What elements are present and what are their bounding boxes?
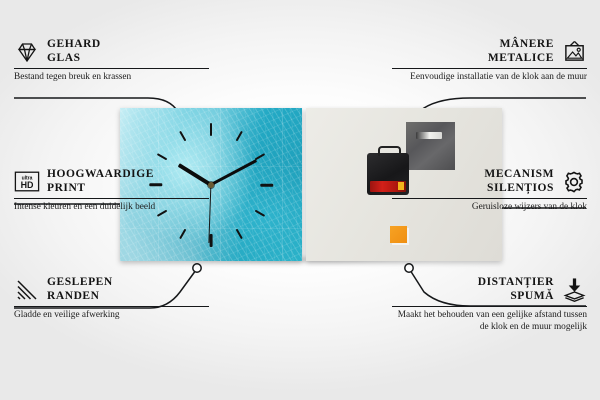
feature-title: HOOGWAARDIGEPRINT xyxy=(47,168,154,195)
feature-title: GEHARDGLAS xyxy=(47,38,101,65)
feature-title: DISTANȚIERSPUMĂ xyxy=(478,276,554,303)
feature-divider xyxy=(14,68,209,69)
feature-title: GESLEPENRANDEN xyxy=(47,276,113,303)
diamond-icon xyxy=(14,39,40,65)
movement-hanger-tab xyxy=(378,146,401,156)
feature-divider xyxy=(392,68,587,69)
feature-glass: GEHARDGLAS Bestand tegen breuk en krasse… xyxy=(14,38,209,84)
feature-print: ultra HD HOOGWAARDIGEPRINT Intense kleur… xyxy=(14,168,209,214)
feature-description: Maakt het behouden van een gelijke afsta… xyxy=(392,310,587,333)
feature-description: Bestand tegen breuk en krassen xyxy=(14,72,209,84)
bevelled-edge-icon xyxy=(14,277,40,303)
feature-edges: GESLEPENRANDEN Gladde en veilige afwerki… xyxy=(14,276,209,322)
feature-divider xyxy=(392,198,587,199)
svg-text:HD: HD xyxy=(21,180,34,190)
hanger-slot xyxy=(416,132,442,139)
feature-description: Gladde en veilige afwerking xyxy=(14,310,209,322)
feature-divider xyxy=(392,306,587,307)
feature-divider xyxy=(14,306,209,307)
feature-description: Eenvoudige installatie van de klok aan d… xyxy=(392,72,587,84)
feature-mechanism: MECANISMSILENȚIOS Geruisloze wijzers van… xyxy=(392,168,587,214)
foam-spacer xyxy=(390,226,407,243)
feature-divider xyxy=(14,198,209,199)
feature-spacer: DISTANȚIERSPUMĂ Maakt het behouden van e… xyxy=(392,276,587,333)
press-down-layers-icon xyxy=(561,277,587,303)
feature-handles: MÂNEREMETALICE Eenvoudige installatie va… xyxy=(392,38,587,84)
infographic-canvas: GEHARDGLAS Bestand tegen breuk en krasse… xyxy=(0,0,600,400)
feature-title: MÂNEREMETALICE xyxy=(488,38,554,65)
metal-hanger-plate xyxy=(406,122,455,170)
picture-frame-hook-icon xyxy=(561,39,587,65)
feature-description: Geruisloze wijzers van de klok xyxy=(392,202,587,214)
gear-icon xyxy=(561,169,587,195)
feature-title: MECANISMSILENȚIOS xyxy=(484,168,554,195)
feature-description: Intense kleuren en een duidelijk beeld xyxy=(14,202,209,214)
ultra-hd-icon: ultra HD xyxy=(14,169,40,195)
